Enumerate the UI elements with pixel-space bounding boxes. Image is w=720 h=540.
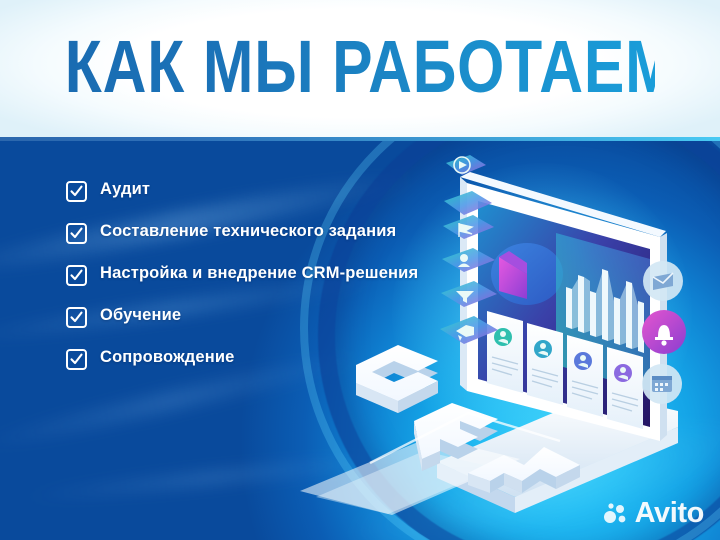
- checkbox-checked-icon[interactable]: [66, 223, 87, 244]
- list-item[interactable]: Сопровождение: [66, 347, 426, 370]
- checkbox-checked-icon[interactable]: [66, 181, 87, 202]
- list-item-label: Обучение: [100, 305, 181, 325]
- list-item[interactable]: Составление технического задания: [66, 221, 426, 244]
- list-item-label: Составление технического задания: [100, 221, 396, 241]
- list-item-label: Аудит: [100, 179, 150, 199]
- header-band: КАК МЫ РАБОТАЕМ: [0, 0, 720, 141]
- page-title: КАК МЫ РАБОТАЕМ: [65, 27, 655, 107]
- checkbox-checked-icon[interactable]: [66, 349, 87, 370]
- avito-dots-logo: [603, 501, 629, 527]
- process-checklist: Аудит Составление технического задания Н…: [66, 179, 426, 370]
- main-stage: Аудит Составление технического задания Н…: [0, 141, 720, 540]
- checkbox-checked-icon[interactable]: [66, 265, 87, 286]
- checkbox-checked-icon[interactable]: [66, 307, 87, 328]
- list-item-label: Настройка и внедрение CRM-решения: [100, 263, 418, 283]
- list-item[interactable]: Аудит: [66, 179, 426, 202]
- list-item-label: Сопровождение: [100, 347, 235, 367]
- list-item[interactable]: Обучение: [66, 305, 426, 328]
- avito-watermark: Avito: [603, 499, 704, 528]
- avito-brand-label: Avito: [635, 499, 704, 528]
- crm-promo-banner: КАК МЫ РАБОТАЕМ: [0, 0, 720, 540]
- list-item[interactable]: Настройка и внедрение CRM-решения: [66, 263, 426, 286]
